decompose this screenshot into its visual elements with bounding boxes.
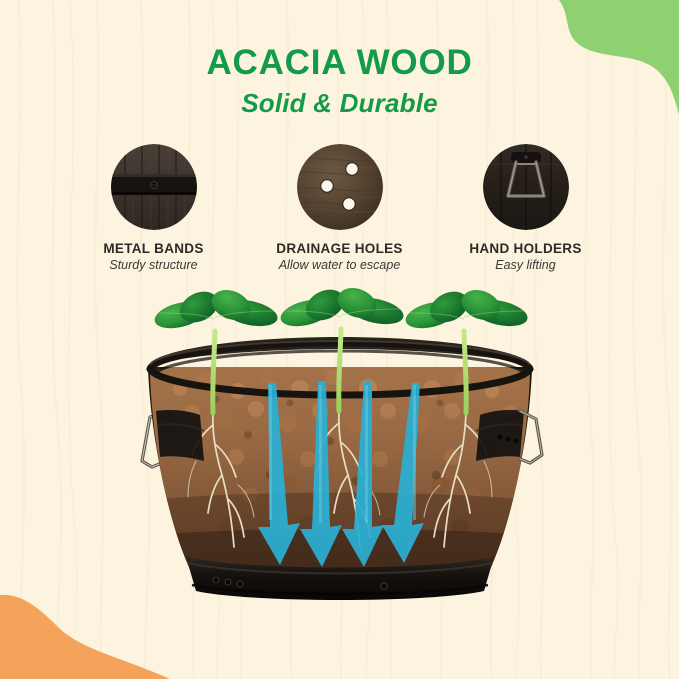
band-left	[156, 410, 204, 461]
infographic-page: ACACIA WOOD Solid & Durable	[0, 0, 679, 679]
planter-cutaway-graphic	[0, 285, 679, 630]
drainage-holes-icon	[297, 144, 383, 230]
hand-holder-icon	[483, 144, 569, 230]
feature-item-metal-bands: METAL BANDS Sturdy structure	[61, 144, 247, 272]
header: ACACIA WOOD Solid & Durable	[0, 44, 679, 119]
feature-title: DRAINAGE HOLES	[276, 241, 402, 256]
feature-item-drainage-holes: DRAINAGE HOLES Allow water to escape	[247, 144, 433, 272]
feature-description: Sturdy structure	[109, 258, 197, 272]
metal-band-icon	[111, 144, 197, 230]
feature-description: Easy lifting	[495, 258, 555, 272]
feature-title: METAL BANDS	[103, 241, 203, 256]
feature-item-hand-holders: HAND HOLDERS Easy lifting	[433, 144, 619, 272]
page-subtitle: Solid & Durable	[0, 88, 679, 119]
feature-list: METAL BANDS Sturdy structure	[0, 144, 679, 272]
feature-title: HAND HOLDERS	[469, 241, 581, 256]
page-title: ACACIA WOOD	[0, 44, 679, 82]
band-right	[476, 410, 524, 461]
feature-description: Allow water to escape	[279, 258, 401, 272]
product-illustration	[0, 285, 679, 630]
